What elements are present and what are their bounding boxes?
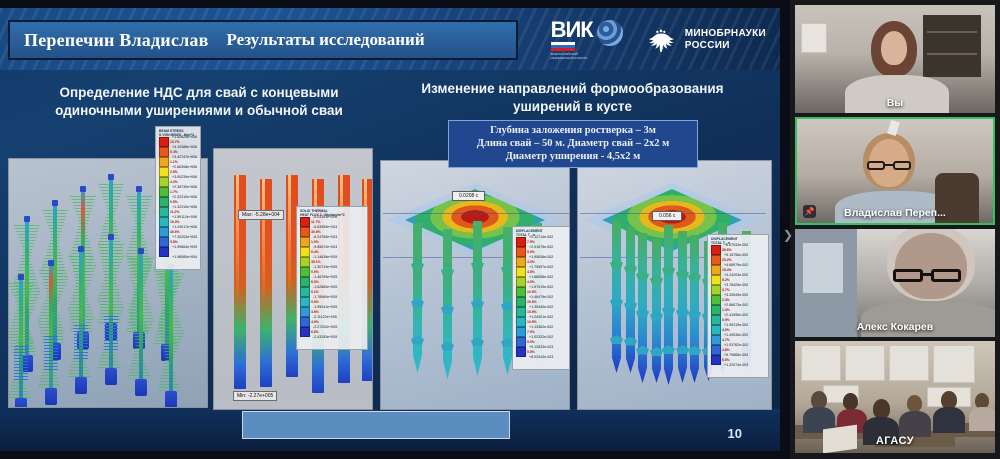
colorbar-value: +2.12714e-002	[529, 235, 553, 239]
colorbar-percent: 2.5%	[170, 170, 178, 174]
colorbar-percent: 0.1%	[311, 290, 319, 294]
colorbar-percent: 3.6%	[311, 310, 319, 314]
heatflux-pile	[234, 175, 246, 389]
colorbar-percent: 0.4%	[311, 250, 319, 254]
participant-4-name: АГАСУ	[795, 435, 995, 447]
pile-beam	[19, 277, 23, 402]
participant-tile-1[interactable]: Вы	[795, 5, 995, 113]
colorbar-value: +3.42747e+006	[172, 155, 197, 159]
colorbar-value: +1.95319e-002	[724, 323, 748, 327]
colorbar-percent: 7.5%	[527, 240, 535, 244]
colorbar-swatch	[516, 357, 526, 367]
chevron-right-icon[interactable]: ❯	[781, 224, 795, 246]
pile-base-cap	[75, 377, 87, 394]
colorbar-value: +1.35440e-002	[529, 305, 553, 309]
colorbar-swatch	[300, 217, 310, 227]
colorbar-swatch	[159, 157, 169, 167]
colorbar-percent: 1.0%	[311, 240, 319, 244]
colorbar-swatch	[516, 287, 526, 297]
colorbar-percent: 15.5%	[527, 310, 537, 314]
colorbar-percent: 23.2%	[722, 258, 732, 262]
colorbar-percent: 4.3%	[170, 180, 178, 184]
colorbar-percent: 0.4%	[170, 150, 178, 154]
colorbar-value: +1.90636e-002	[529, 255, 553, 259]
colorbar-value: -1.95041e+005	[313, 305, 337, 309]
colorbar-percent: 5.8%	[170, 240, 178, 244]
participant-tile-2[interactable]: 📌 Владислав Переп...	[795, 117, 995, 225]
colorbar-swatch	[159, 257, 169, 267]
colorbar-swatch	[516, 297, 526, 307]
colorbar-swatch	[300, 267, 310, 277]
slide-page-number: 10	[728, 426, 742, 441]
colorbar-swatch	[711, 255, 721, 265]
colorbar-value: +2.86873e-002	[724, 303, 748, 307]
participant-2-name: Владислав Переп...	[797, 207, 993, 219]
participants-filmstrip: Вы 📌 Владислав Переп...	[790, 0, 1000, 459]
colorbar-percent: 0.5%	[170, 200, 178, 204]
colorbar-percent: 1.3%	[722, 308, 730, 312]
slide-title-bar: Перепечин Владислав Результаты исследова…	[8, 20, 518, 60]
colorbar-percent: 2.3%	[722, 298, 730, 302]
parameter-line-3: Диаметр уширения - 4,5х2 м	[453, 150, 693, 163]
parameters-box: Глубина заложения ростверка – 3м Длина с…	[448, 120, 698, 168]
colorbar-value: +1.68558e-002	[529, 275, 553, 279]
colorbar-percent: 3.7%	[722, 288, 730, 292]
pile-beam	[109, 237, 113, 372]
shared-screen-stage[interactable]: Перепечин Владислав Результаты исследова…	[0, 0, 790, 459]
colorbar-swatch	[711, 365, 721, 375]
vik-sphere-icon	[597, 20, 623, 46]
colorbar-percent: 6.6%	[722, 358, 730, 362]
heading-right: Изменение направлений формообразования у…	[400, 80, 745, 116]
pile-base-cap	[105, 368, 117, 385]
colorbar-swatch	[159, 237, 169, 247]
pile-beam	[169, 267, 173, 395]
colorbar-value: -1.46799e+005	[313, 275, 337, 279]
colorbar-swatch	[300, 237, 310, 247]
colorbar-swatch	[516, 257, 526, 267]
colorbar-percent: 0.0%	[311, 270, 319, 274]
colorbar-percent: 35.1%	[311, 260, 321, 264]
colorbar-swatch	[300, 287, 310, 297]
colorbar-swatch	[300, 257, 310, 267]
colorbar-percent: 20.5%	[527, 300, 537, 304]
colorbar-value: -2.11122e+005	[313, 315, 337, 319]
colorbar-value: +3.78426e-002	[724, 283, 748, 287]
colorbar-swatch	[711, 265, 721, 275]
colorbar-percent: 4.5%	[527, 270, 535, 274]
colorbar-swatch	[159, 137, 169, 147]
figure2-min-label: Min: -2.27e+005	[233, 391, 277, 401]
colorbar-value: +5.15756e-002	[724, 253, 748, 257]
colorbar-value: +2.01675e-002	[529, 245, 553, 249]
colorbar-value: +1.49536e-002	[724, 333, 748, 337]
vik-logo: ВИК ВСЕРОССИЙСКИЙ ИНЖЕНЕРНЫЙ КОНКУРС	[551, 20, 623, 60]
pile-head	[136, 186, 142, 192]
colorbar-value: -6.63959e+004	[313, 225, 337, 229]
colorbar-percent: 5.5%	[527, 350, 535, 354]
colorbar-percent: 7.0%	[527, 330, 535, 334]
colorbar-percent: 26.6%	[722, 248, 732, 252]
colorbar-swatch	[516, 327, 526, 337]
colorbar-value: +5.79865e-003	[724, 353, 748, 357]
colorbar-swatch	[159, 197, 169, 207]
colorbar-value: +7.30203e+005	[172, 235, 197, 239]
colorbar-percent: 0.0%	[311, 300, 319, 304]
colorbar-percent: 4.0%	[311, 320, 319, 324]
colorbar-value: +2.41096e-002	[724, 313, 748, 317]
pile-beam	[49, 263, 53, 392]
colorbar-swatch	[711, 315, 721, 325]
colorbar-row: +8.02443e-003	[516, 357, 566, 367]
colorbar-value: -2.27202e+005	[313, 325, 337, 329]
pile-head	[52, 200, 58, 206]
colorbar-row: -2.43283e+005	[300, 337, 364, 347]
pile-base-cap	[15, 398, 27, 408]
colorbar-percent: 13.7%	[170, 140, 180, 144]
colorbar-value: +1.52625e+006	[172, 135, 197, 139]
heading-left: Определение НДС для свай с концевыми оди…	[34, 84, 364, 120]
colorbar-value: +1.59112e+006	[172, 215, 197, 219]
double-headed-eagle-icon	[645, 25, 677, 55]
participant-tile-3[interactable]: Алекс Кокарев	[795, 229, 995, 337]
presenter-name: Перепечин Владислав	[24, 30, 209, 51]
colorbar-swatch	[711, 305, 721, 315]
pile-head	[24, 216, 30, 222]
colorbar-percent: 6.8%	[311, 330, 319, 334]
colorbar-row: +1.22074e-003	[711, 365, 765, 375]
presentation-slide: Перепечин Владислав Результаты исследова…	[0, 8, 780, 451]
colorbar2-rows: -5.03153e+00411.7% -6.63959e+00430.6% -8…	[300, 217, 364, 347]
helix-coil	[44, 334, 58, 370]
ministry-label-line2: РОССИИ	[685, 40, 766, 52]
colorbar-value: +1.32310e+006	[172, 205, 197, 209]
colorbar-swatch	[159, 217, 169, 227]
colorbar-swatch	[711, 325, 721, 335]
colorbar-swatch	[159, 247, 169, 257]
colorbar-swatch	[516, 347, 526, 357]
colorbar-swatch	[300, 227, 310, 237]
slide-subject: Результаты исследований	[227, 30, 425, 50]
colorbar-value: -1.62880e+005	[313, 285, 337, 289]
colorbar-value: +8.02443e-003	[529, 355, 553, 359]
colorbar-percent: 10.5%	[527, 290, 537, 294]
colorbar-swatch	[300, 247, 310, 257]
colorbar-swatch	[300, 327, 310, 337]
colorbar-value: +1.79597e-002	[529, 265, 553, 269]
colorbar-percent: 4.7%	[722, 338, 730, 342]
pile-beam	[139, 251, 143, 383]
colorbar-swatch	[516, 237, 526, 247]
colorbar-displacement-b: DISPLACEMENT TOTAL T , n +5.67533e-00226…	[707, 234, 769, 378]
pile-head	[48, 260, 54, 266]
slide-placeholder-strip	[242, 411, 510, 439]
colorbar-swatch	[516, 277, 526, 287]
colorbar-swatch	[159, 207, 169, 217]
colorbar-swatch	[711, 335, 721, 345]
helix-coil	[104, 314, 118, 350]
colorbar-value: +9.12833e-003	[529, 345, 553, 349]
participant-1-name: Вы	[795, 97, 995, 109]
colorbar-percent: 1.7%	[170, 190, 178, 194]
colorbar-percent: 4.9%	[722, 328, 730, 332]
ministry-label-line1: МИНОБРНАУКИ	[685, 28, 766, 40]
colorbar-swatch	[300, 307, 310, 317]
pile-base-cap	[135, 379, 147, 396]
helix-coil	[74, 323, 88, 359]
pile-head	[108, 234, 114, 240]
colorbar-value: +1.57519e-002	[529, 285, 553, 289]
colorbar-value: +1.13362e-002	[529, 325, 553, 329]
colorbar4-rows: +5.67533e-00226.6% +5.15756e-00223.2% +4…	[711, 245, 765, 375]
helix-coil	[14, 344, 28, 380]
colorbar-swatch	[300, 277, 310, 287]
colorbar-swatch	[159, 167, 169, 177]
colorbar-value: -5.03153e+004	[313, 215, 337, 219]
colorbar-percent: 11.7%	[311, 220, 320, 224]
colorbar-value: +1.46479e-002	[529, 295, 553, 299]
colorbar-percent: 4.8%	[722, 348, 730, 352]
colorbar-value: -1.30719e+005	[313, 265, 337, 269]
colorbar-swatch	[711, 285, 721, 295]
colorbar3-rows: +2.12714e-0027.5% +2.01675e-0025.0% +1.9…	[516, 237, 566, 367]
colorbar-swatch	[711, 245, 721, 255]
colorbar-percent: 40.6%	[170, 230, 180, 234]
colorbar-value: +3.32649e-002	[724, 293, 748, 297]
colorbar-percent: 0.9%	[722, 318, 730, 322]
zoom-meeting-window: Перепечин Владислав Результаты исследова…	[0, 0, 1000, 459]
colorbar-value: -9.85572e+004	[313, 245, 337, 249]
slide-logos: ВИК ВСЕРОССИЙСКИЙ ИНЖЕНЕРНЫЙ КОНКУРС	[551, 20, 766, 60]
colorbar-value: +4.24203e-002	[724, 273, 748, 277]
vik-flag-icon	[551, 42, 575, 51]
colorbar-value: +3.00239e+006	[172, 175, 197, 179]
vik-logo-text: ВИК	[551, 20, 593, 40]
pile-head	[108, 174, 114, 180]
colorbar-value: +1.02322e-002	[529, 335, 553, 339]
colorbar-percent: 15.4%	[722, 268, 732, 272]
colorbar-value: +1.24017e+006	[172, 225, 197, 229]
colorbar-percent: 4.5%	[527, 280, 535, 284]
colorbar-value: +4.68979e-002	[724, 263, 748, 267]
colorbar-value: +1.99864e+005	[172, 245, 197, 249]
colorbar-percent: 5.0%	[527, 250, 535, 254]
colorbar-percent: 1.1%	[170, 160, 178, 164]
colorbar-value: +5.67533e-002	[724, 243, 748, 247]
colorbar-swatch	[711, 345, 721, 355]
colorbar-percent: 30.6%	[311, 230, 321, 234]
pile-head	[80, 186, 86, 192]
colorbar-value: +1.22074e-003	[724, 363, 748, 367]
pin-marker-icon	[887, 120, 900, 136]
colorbar-swatch	[516, 317, 526, 327]
colorbar-swatch	[516, 337, 526, 347]
ministry-logo: МИНОБРНАУКИ РОССИИ	[645, 25, 766, 55]
colorbar-percent: 11.2%	[170, 210, 179, 214]
colorbar-percent: 4.0%	[527, 260, 535, 264]
colorbar-swatch	[516, 247, 526, 257]
pile-base-cap	[45, 388, 57, 405]
pile-head	[138, 248, 144, 254]
colorbar-swatch	[300, 297, 310, 307]
figure4-max-label: 0.056 с	[652, 211, 682, 221]
colorbar-swatch	[516, 267, 526, 277]
pile-head	[78, 246, 84, 252]
colorbar-value: +1.98580e+004	[172, 255, 197, 259]
colorbar-percent: 5.2%	[722, 278, 730, 282]
colorbar-percent: 19.3%	[170, 220, 180, 224]
colorbar-value: -1.78960e+005	[313, 295, 337, 299]
figure2-max-label: Max: -5.28e+004	[238, 210, 284, 220]
colorbar-value: +2.66308e+006	[172, 165, 197, 169]
colorbar-value: -2.43283e+005	[313, 335, 337, 339]
parameter-line-1: Глубина заложения ростверка – 3м	[453, 124, 693, 137]
participant-tile-4[interactable]: АГАСУ	[795, 341, 995, 453]
colorbar1-rows: +1.52625e+00613.7% +4.10386e+0060.4% +3.…	[159, 137, 197, 267]
pile-beam	[79, 249, 83, 381]
pile-head	[18, 274, 24, 280]
colorbar-value: +1.24401e-002	[529, 315, 553, 319]
colorbar-swatch	[159, 177, 169, 187]
participant-3-name: Алекс Кокарев	[795, 321, 995, 333]
colorbar-value: +2.32310e+006	[172, 195, 197, 199]
colorbar-value: +4.10386e+006	[172, 145, 197, 149]
colorbar-swatch	[159, 187, 169, 197]
colorbar-beam-stress: BEAM STRESS S VON MISES , N/m^2 +1.52625…	[155, 126, 201, 270]
colorbar-swatch	[159, 147, 169, 157]
colorbar-swatch	[516, 307, 526, 317]
vik-logo-caption: ВСЕРОССИЙСКИЙ ИНЖЕНЕРНЫЙ КОНКУРС	[551, 52, 593, 60]
pile-base-cap	[165, 391, 177, 408]
colorbar-swatch	[300, 317, 310, 327]
colorbar-swatch	[300, 337, 310, 347]
colorbar-percent: 5.0%	[527, 340, 535, 344]
colorbar-swatch	[159, 227, 169, 237]
colorbar-value: -8.24765e+004	[313, 235, 337, 239]
colorbar-row: +1.98580e+004	[159, 257, 197, 267]
colorbar-value: +1.03762e-002	[724, 343, 748, 347]
colorbar-percent: 10.5%	[527, 320, 537, 324]
figure3-max-label: 0.0208 с	[452, 191, 485, 201]
colorbar-swatch	[711, 355, 721, 365]
colorbar-heat-flux: SOLID THERMAL HEAT FLUX 2 , Btu/day/m^2 …	[296, 206, 368, 350]
parameter-line-2: Длина свай – 50 м. Диаметр свай – 2х2 м	[453, 137, 693, 150]
colorbar-value: -1.14638e+005	[313, 255, 337, 259]
colorbar-swatch	[711, 295, 721, 305]
colorbar-swatch	[711, 275, 721, 285]
colorbar-displacement-a: DISPLACEMENT TOTAL T , n +2.12714e-0027.…	[512, 226, 570, 370]
colorbar-value: +2.38730e+006	[172, 185, 197, 189]
colorbar-percent: 6.0%	[311, 280, 319, 284]
